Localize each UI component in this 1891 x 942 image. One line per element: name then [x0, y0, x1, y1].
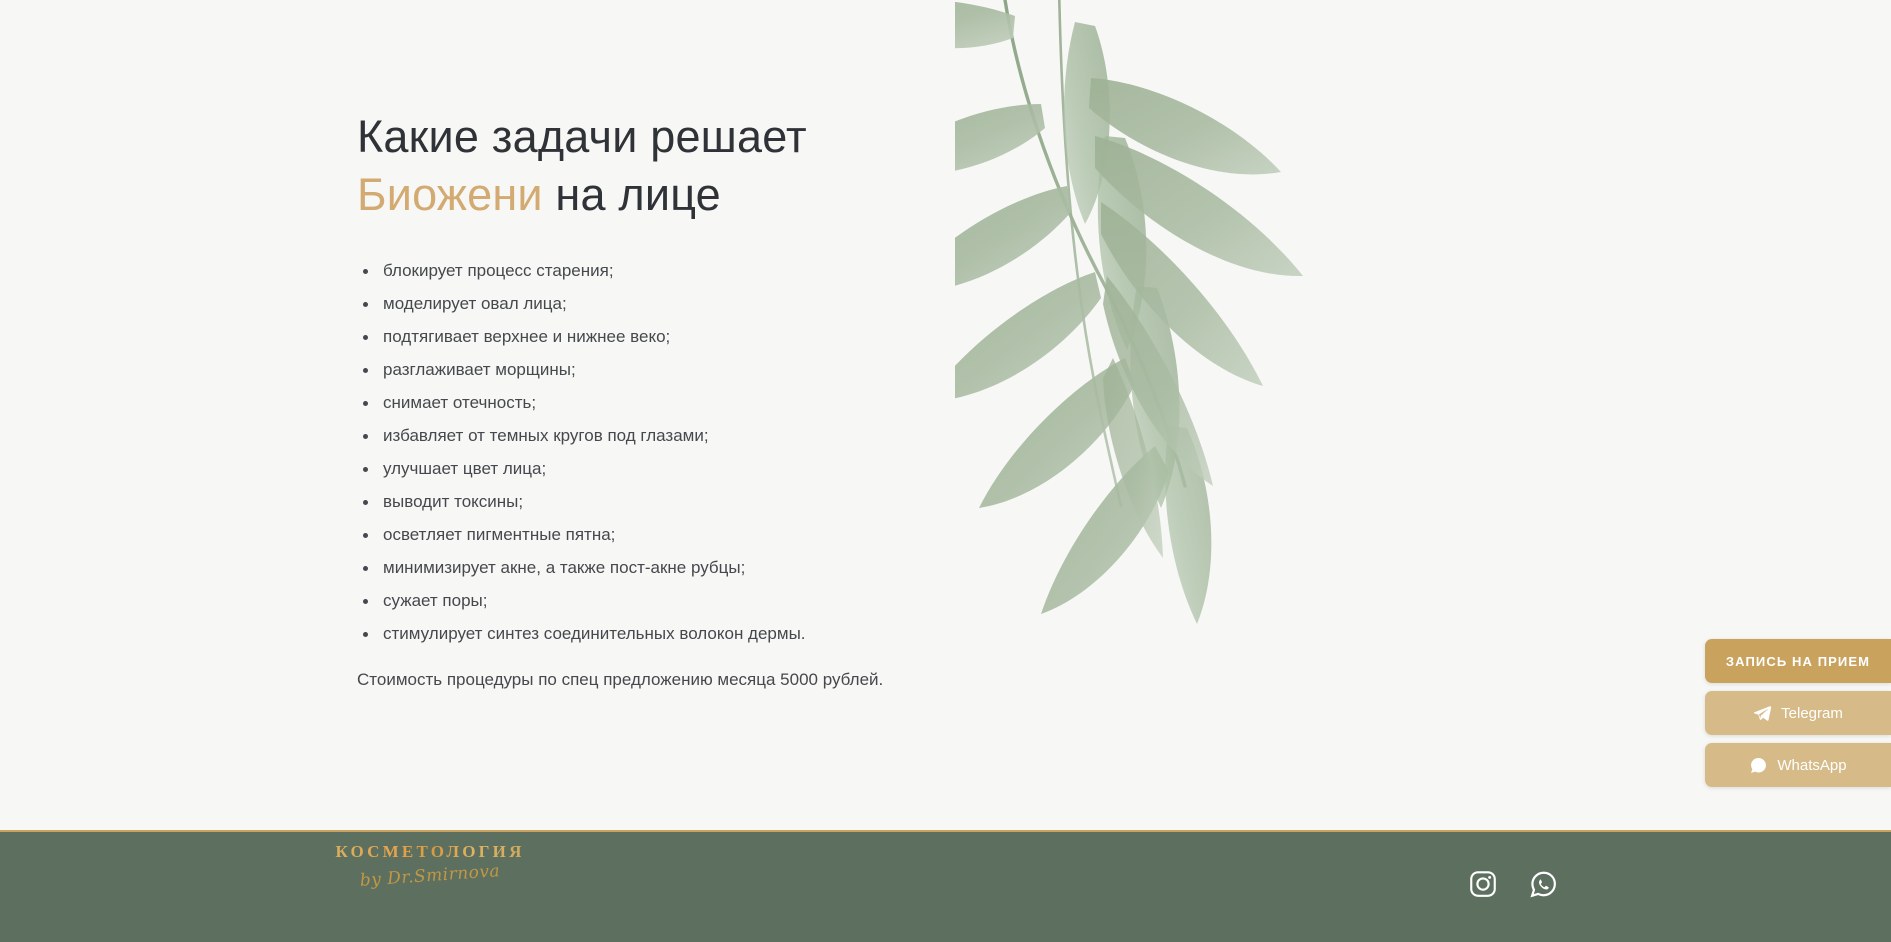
- list-item: осветляет пигментные пятна;: [357, 525, 1337, 545]
- list-item: моделирует овал лица;: [357, 294, 1337, 314]
- benefits-list: блокирует процесс старения; моделирует о…: [357, 261, 1337, 644]
- telegram-button-label: Telegram: [1781, 705, 1843, 722]
- whatsapp-button-label: WhatsApp: [1777, 757, 1846, 774]
- whatsapp-icon: [1528, 869, 1559, 900]
- whatsapp-icon: [1749, 756, 1768, 775]
- main-content: Какие задачи решает Биожени на лице блок…: [357, 0, 1337, 691]
- floating-action-buttons: Запись на прием Telegram WhatsApp: [1705, 639, 1891, 787]
- logo-word: КОСМЕТОЛОГИЯ: [330, 842, 530, 862]
- list-item: стимулирует синтез соединительных волоко…: [357, 624, 1337, 644]
- list-item: избавляет от темных кругов под глазами;: [357, 426, 1337, 446]
- page-title-line2-rest: на лице: [543, 169, 721, 220]
- logo-script-signature: by Dr.Smirnova: [330, 859, 531, 893]
- list-item: разглаживает морщины;: [357, 360, 1337, 380]
- list-item: улучшает цвет лица;: [357, 459, 1337, 479]
- social-link-whatsapp[interactable]: [1525, 866, 1561, 902]
- footer-logo[interactable]: КОСМЕТОЛОГИЯ by Dr.Smirnova: [330, 842, 530, 886]
- whatsapp-button[interactable]: WhatsApp: [1705, 743, 1891, 787]
- page-title-accent: Биожени: [357, 169, 543, 220]
- appointment-button[interactable]: Запись на прием: [1705, 639, 1891, 683]
- page-title-line1: Какие задачи решает: [357, 111, 807, 162]
- list-item: сужает поры;: [357, 591, 1337, 611]
- price-note: Стоимость процедуры по спец предложению …: [357, 669, 1337, 691]
- footer-social-links: [1465, 866, 1561, 902]
- list-item: снимает отечность;: [357, 393, 1337, 413]
- telegram-icon: [1753, 704, 1772, 723]
- list-item: минимизирует акне, а также пост-акне руб…: [357, 558, 1337, 578]
- list-item: выводит токсины;: [357, 492, 1337, 512]
- page-title: Какие задачи решает Биожени на лице: [357, 108, 1337, 224]
- list-item: подтягивает верхнее и нижнее веко;: [357, 327, 1337, 347]
- list-item: блокирует процесс старения;: [357, 261, 1337, 281]
- social-link-instagram[interactable]: [1465, 866, 1501, 902]
- telegram-button[interactable]: Telegram: [1705, 691, 1891, 735]
- instagram-icon: [1468, 869, 1498, 899]
- site-footer: КОСМЕТОЛОГИЯ by Dr.Smirnova: [0, 830, 1891, 942]
